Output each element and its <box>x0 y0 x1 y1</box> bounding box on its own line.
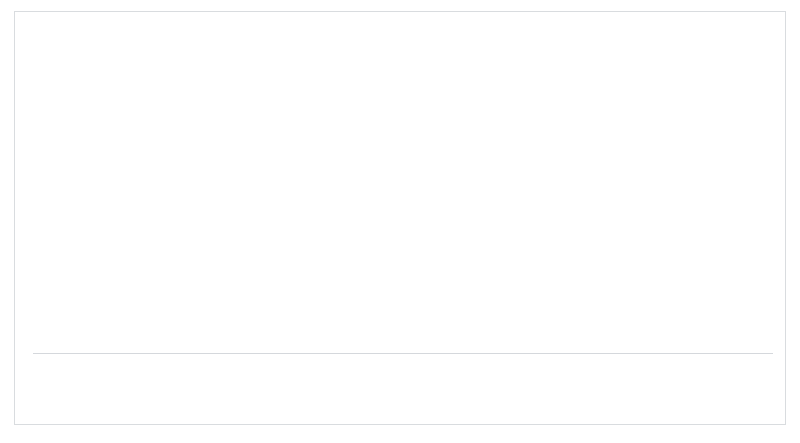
legend-item-extremely-important[interactable] <box>358 78 380 92</box>
chart-legend <box>15 78 785 92</box>
x-axis-line <box>33 353 773 354</box>
legend-swatch-extremely-important <box>358 78 372 92</box>
chart-frame <box>14 11 786 425</box>
plot-area <box>33 162 769 354</box>
legend-swatch-quite-important <box>420 78 434 92</box>
x-axis-labels <box>33 358 773 420</box>
legend-item-quite-important[interactable] <box>420 78 442 92</box>
